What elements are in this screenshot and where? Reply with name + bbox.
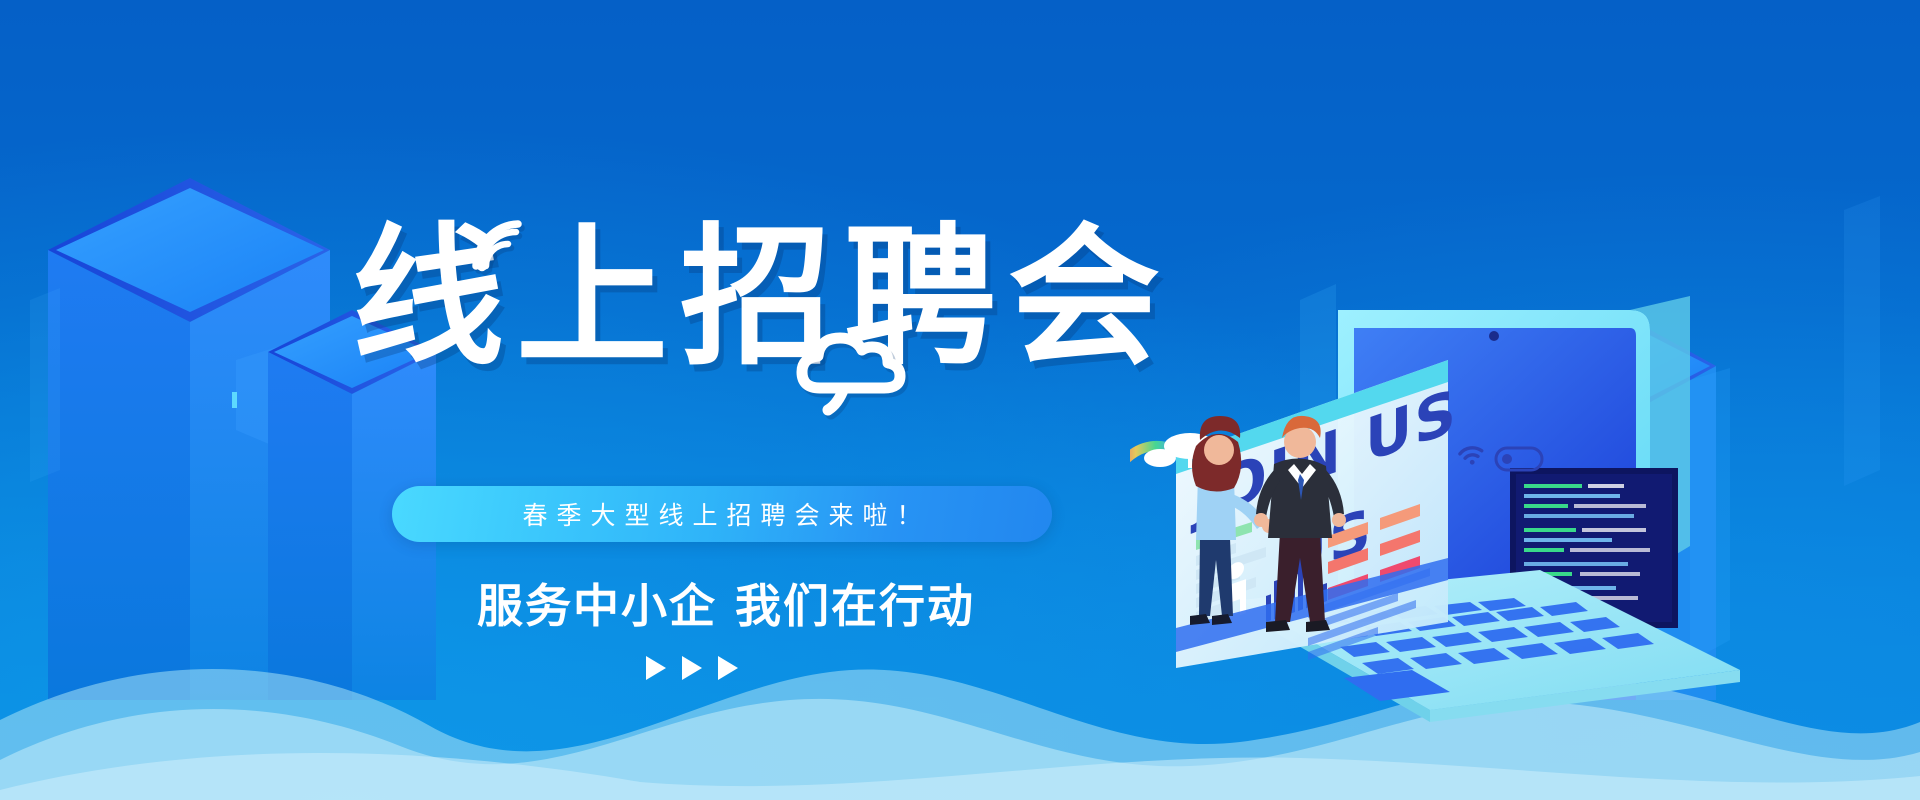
online-job-fair-banner: JOIN US US bbox=[0, 0, 1920, 800]
arrow-marker-1 bbox=[646, 656, 666, 680]
arrow-markers bbox=[646, 656, 738, 680]
wifi-signal-icon bbox=[466, 214, 528, 276]
subtitle-pill-label: 春季大型线上招聘会来啦！ bbox=[513, 496, 930, 532]
subtitle-pill: 春季大型线上招聘会来啦！ bbox=[392, 486, 1052, 542]
copy-block: 线上招聘会 春季大型线上招聘会来啦！ 服务中小企 我们在行动 bbox=[0, 0, 1350, 800]
tagline: 服务中小企 我们在行动 bbox=[466, 570, 986, 636]
arrow-marker-2 bbox=[682, 656, 702, 680]
cloud-icon bbox=[786, 326, 914, 422]
arrow-marker-3 bbox=[718, 656, 738, 680]
